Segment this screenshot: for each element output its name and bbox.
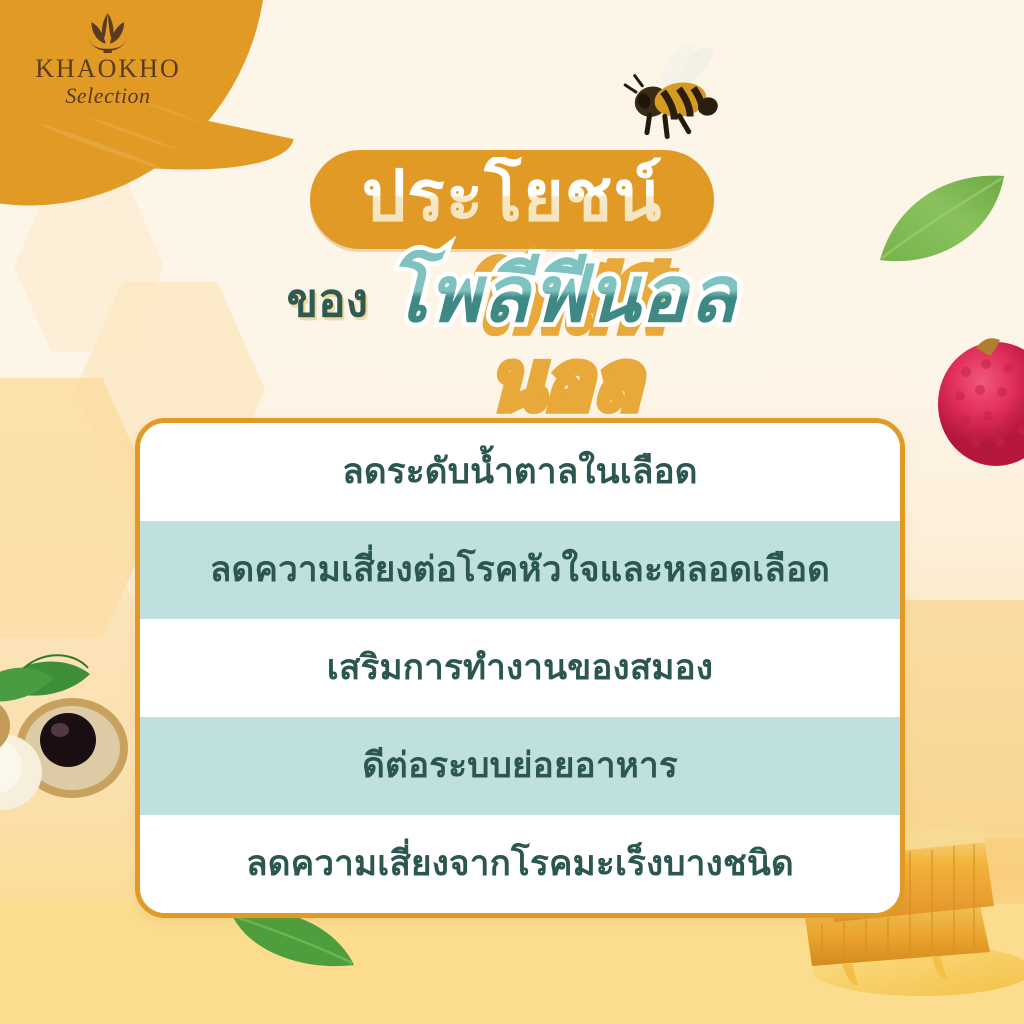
brand-tagline: Selection — [18, 84, 198, 108]
benefit-row: เสริมการทำงานของสมอง — [140, 619, 900, 717]
headline-subtitle-row: ของ โพลีฟีนอล โพลีฟีนอล โพลีฟีนอล — [0, 255, 1024, 333]
lotus-leaf-icon — [77, 10, 138, 54]
benefit-row: ลดระดับน้ำตาลในเลือด — [140, 423, 900, 521]
benefit-row: ลดความเสี่ยงจากโรคมะเร็งบางชนิด — [140, 815, 900, 913]
headline-main-word: โพลีฟีนอล โพลีฟีนอล โพลีฟีนอล — [386, 255, 737, 333]
benefit-text: ลดความเสี่ยงต่อโรคหัวใจและหลอดเลือด — [210, 548, 830, 592]
brand-name: KHAOKHO — [18, 56, 198, 82]
benefit-row: ดีต่อระบบย่อยอาหาร — [140, 717, 900, 815]
honeybee-icon — [616, 44, 736, 154]
benefit-text: ลดความเสี่ยงจากโรคมะเร็งบางชนิด — [246, 842, 794, 886]
brand-logo: KHAOKHO Selection — [18, 8, 198, 120]
lychee-fruit-icon — [930, 320, 1024, 470]
benefit-text: ดีต่อระบบย่อยอาหาร — [362, 744, 678, 788]
headline-pill: ประโยชน์ — [310, 150, 715, 249]
headline-pill-text: ประโยชน์ — [362, 157, 663, 235]
headline-block: ประโยชน์ ของ โพลีฟีนอล โพลีฟีนอล โพลีฟีน… — [0, 150, 1024, 333]
longan-fruit-icon — [0, 640, 153, 815]
headline-main-fill: โพลีฟีนอล — [386, 250, 737, 338]
headline-prefix: ของ — [287, 277, 369, 333]
benefits-card: ลดระดับน้ำตาลในเลือด ลดความเสี่ยงต่อโรคห… — [135, 418, 905, 918]
benefit-row: ลดความเสี่ยงต่อโรคหัวใจและหลอดเลือด — [140, 521, 900, 619]
poster-canvas: KHAOKHO Selection — [0, 0, 1024, 1024]
benefit-text: ลดระดับน้ำตาลในเลือด — [342, 450, 698, 494]
benefit-text: เสริมการทำงานของสมอง — [327, 646, 713, 690]
